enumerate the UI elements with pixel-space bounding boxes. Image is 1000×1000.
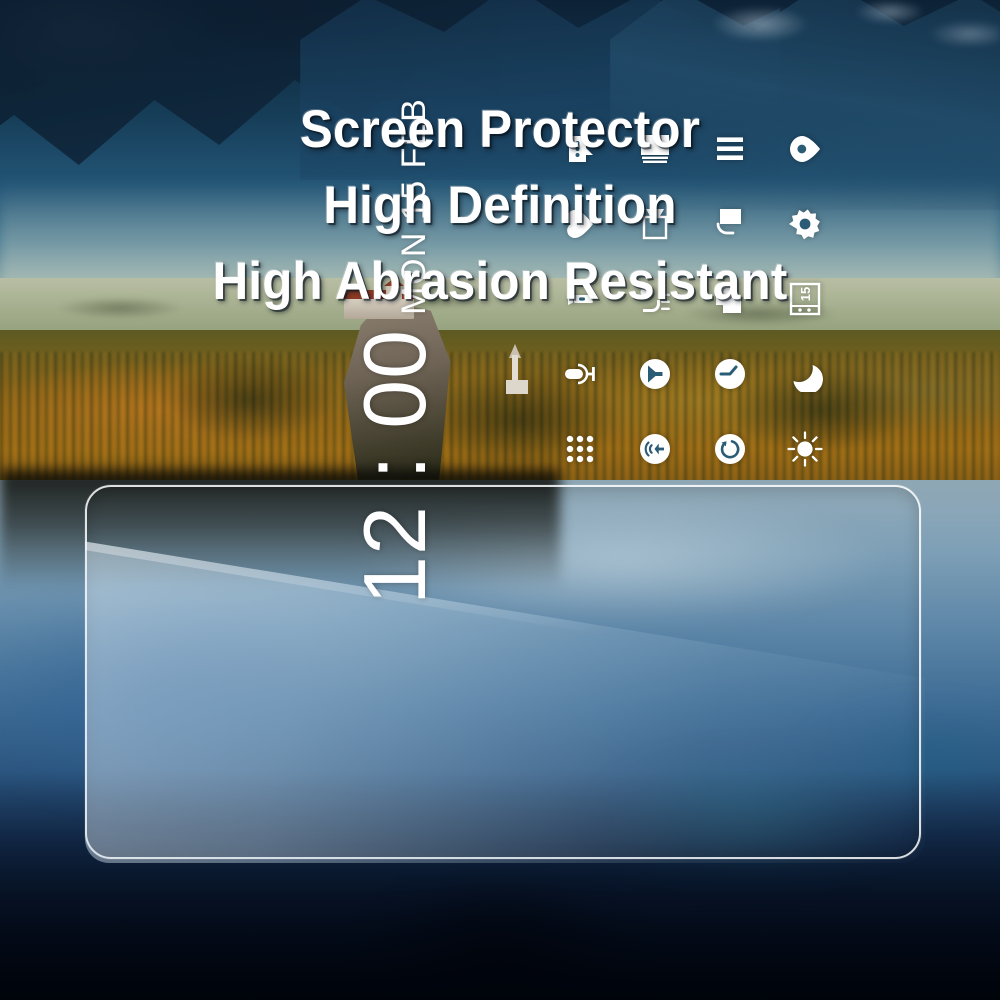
quick-tile-clock[interactable] — [692, 337, 767, 412]
microphone-icon — [562, 357, 598, 393]
quick-tile-hotspot[interactable] — [617, 412, 692, 487]
screen-protector-film — [85, 521, 925, 863]
moon-icon — [787, 357, 823, 393]
quick-tile-app-drawer-grid[interactable] — [542, 412, 617, 487]
clock-circle-icon — [712, 357, 748, 393]
rotate-circle-icon — [712, 432, 748, 468]
headline-line-2: High Definition — [35, 168, 965, 244]
funnel-circle-icon — [637, 357, 673, 393]
quick-tile-night-mode[interactable] — [767, 337, 842, 412]
quick-tile-brightness[interactable] — [767, 412, 842, 487]
app-drawer-grid-icon — [563, 433, 597, 467]
lockscreen-time: 12 : 00 — [355, 329, 436, 605]
phone-screen-outline: 12 : 00 MON 15 FEB — [85, 485, 921, 859]
brightness-sun-icon — [786, 431, 824, 469]
headline-line-3: High Abrasion Resistant — [35, 244, 965, 320]
quick-tile-microphone[interactable] — [542, 337, 617, 412]
product-image-canvas: Screen Protector High Definition High Ab… — [0, 0, 1000, 1000]
marketing-headline: Screen Protector High Definition High Ab… — [0, 92, 1000, 320]
church-body — [506, 380, 528, 394]
quick-tile-auto-rotate[interactable] — [692, 412, 767, 487]
hotspot-circle-icon — [637, 432, 673, 468]
screen-protector-film-edge — [85, 521, 925, 863]
quick-tile-filter[interactable] — [617, 337, 692, 412]
headline-line-1: Screen Protector — [35, 92, 965, 168]
